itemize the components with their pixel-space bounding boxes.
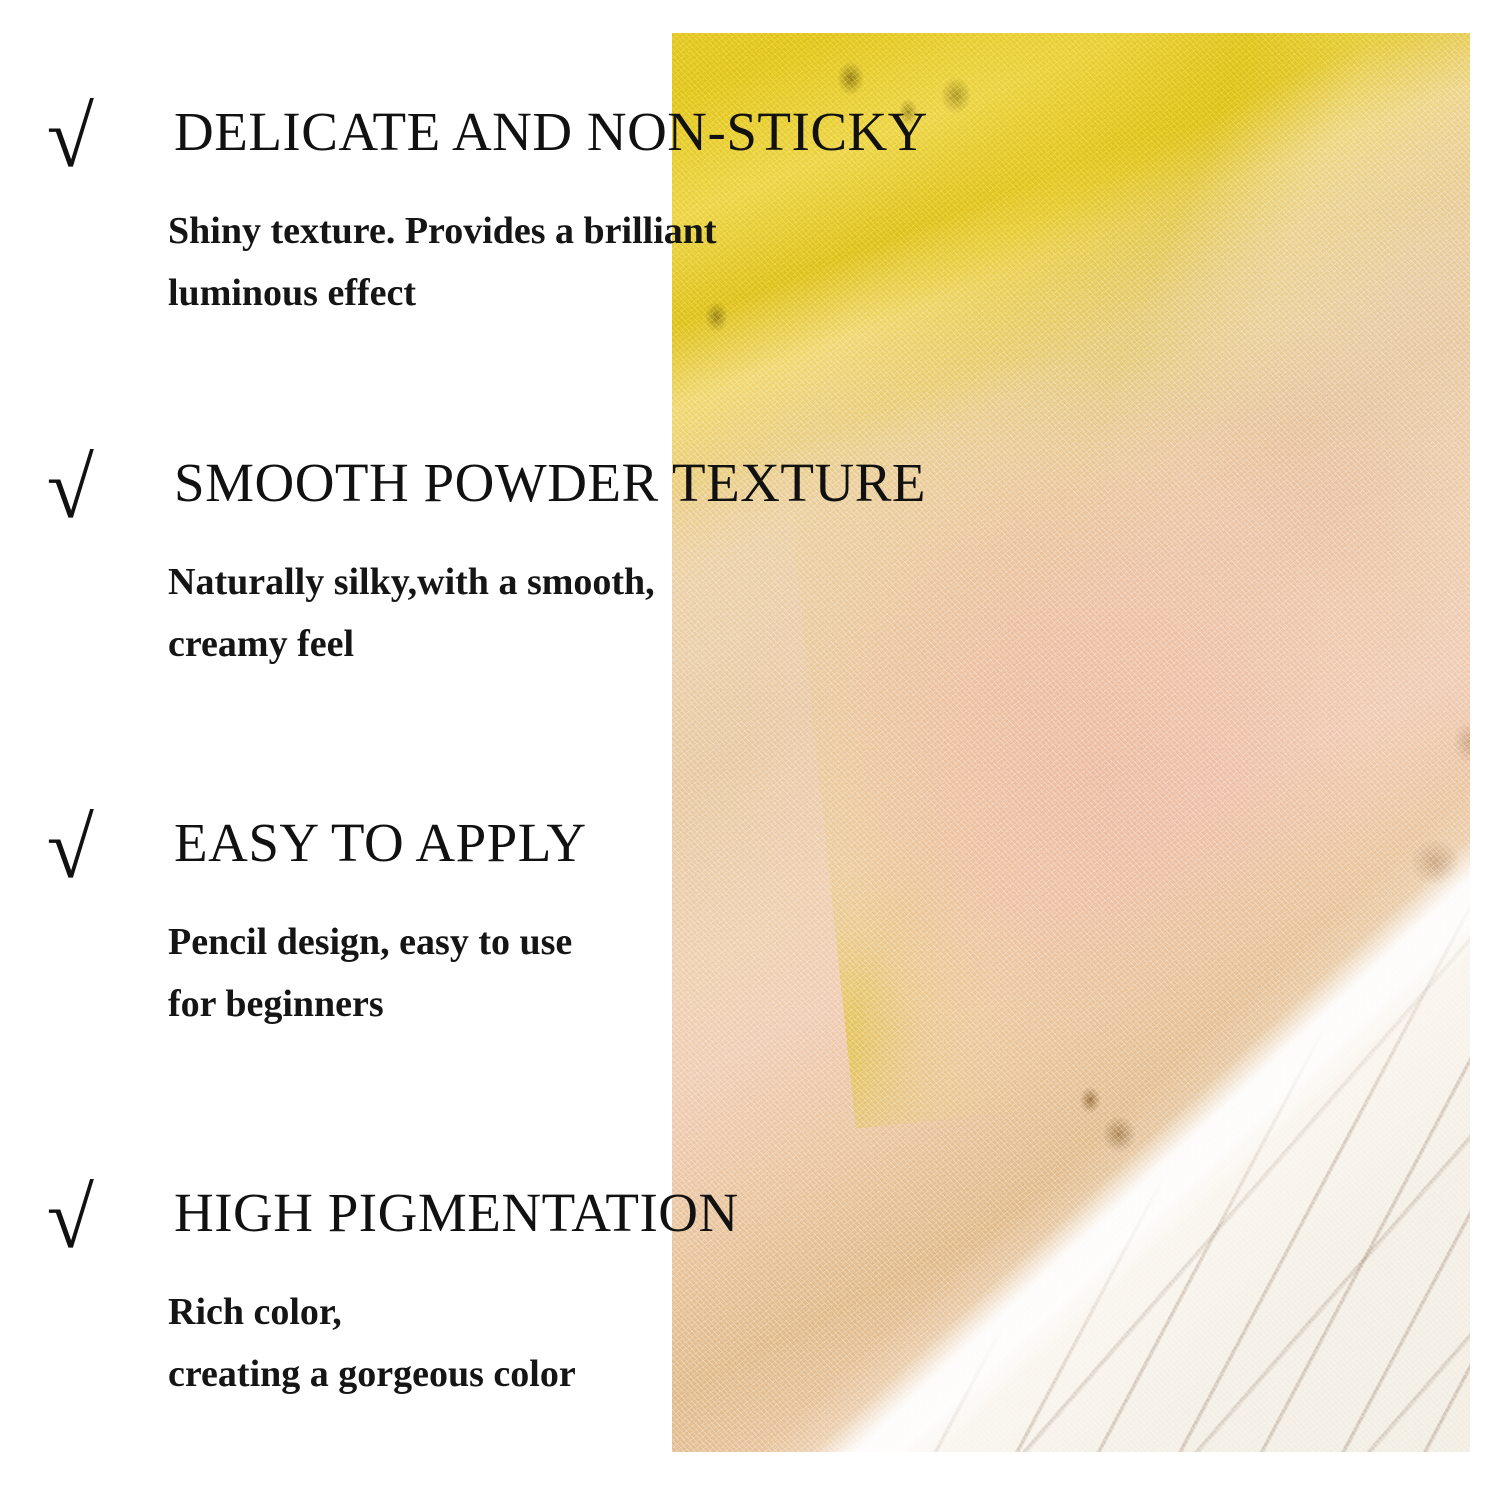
check-icon: √ (0, 1185, 98, 1252)
feature-description: Rich color, creating a gorgeous color (168, 1282, 1500, 1405)
check-icon: √ (0, 815, 98, 882)
feature-item: √ EASY TO APPLY Pencil design, easy to u… (0, 815, 1500, 1035)
feature-heading-row: √ EASY TO APPLY (0, 815, 1500, 882)
feature-title: EASY TO APPLY (174, 815, 587, 870)
feature-description: Naturally silky,with a smooth, creamy fe… (168, 552, 1500, 675)
feature-description-line: for beginners (168, 974, 1500, 1036)
feature-description-line: Shiny texture. Provides a brilliant (168, 201, 1500, 263)
feature-title: SMOOTH POWDER TEXTURE (174, 455, 926, 510)
feature-description-line: Pencil design, easy to use (168, 912, 1500, 974)
feature-item: √ HIGH PIGMENTATION Rich color, creating… (0, 1185, 1500, 1405)
feature-heading-row: √ DELICATE AND NON-STICKY (0, 104, 1500, 171)
feature-item: √ DELICATE AND NON-STICKY Shiny texture.… (0, 104, 1500, 324)
product-feature-infographic: √ DELICATE AND NON-STICKY Shiny texture.… (0, 0, 1500, 1500)
feature-description: Pencil design, easy to use for beginners (168, 912, 1500, 1035)
feature-title: DELICATE AND NON-STICKY (174, 104, 928, 159)
feature-item: √ SMOOTH POWDER TEXTURE Naturally silky,… (0, 455, 1500, 675)
feature-description-line: Naturally silky,with a smooth, (168, 552, 1500, 614)
feature-heading-row: √ HIGH PIGMENTATION (0, 1185, 1500, 1252)
feature-description: Shiny texture. Provides a brilliant lumi… (168, 201, 1500, 324)
check-icon: √ (0, 104, 98, 171)
feature-description-line: creamy feel (168, 614, 1500, 676)
feature-heading-row: √ SMOOTH POWDER TEXTURE (0, 455, 1500, 522)
check-icon: √ (0, 455, 98, 522)
feature-description-line: creating a gorgeous color (168, 1344, 1500, 1406)
feature-title: HIGH PIGMENTATION (174, 1185, 739, 1240)
feature-description-line: Rich color, (168, 1282, 1500, 1344)
feature-description-line: luminous effect (168, 263, 1500, 325)
